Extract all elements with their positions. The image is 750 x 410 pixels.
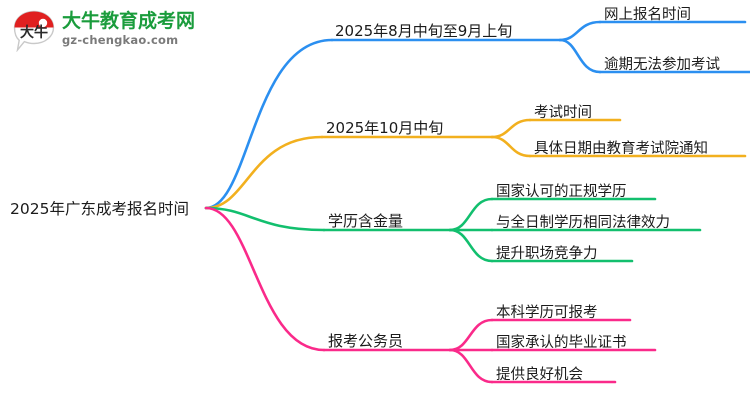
leaf-state-recognized-certificate[interactable]: 国家承认的毕业证书: [496, 331, 627, 352]
connector-branch-orange: [206, 120, 745, 208]
branch-label-exam-time[interactable]: 2025年10月中旬: [326, 117, 443, 138]
leaf-good-opportunity[interactable]: 提供良好机会: [496, 363, 583, 384]
leaf-date-notified-by-bureau[interactable]: 具体日期由教育考试院通知: [534, 137, 708, 158]
leaf-bachelor-can-apply[interactable]: 本科学历可报考: [496, 301, 598, 322]
leaf-overdue-cannot-attend[interactable]: 逾期无法参加考试: [604, 53, 720, 74]
mindmap-canvas: 大牛 大牛教育成考网 gz-chengkao.com: [0, 0, 750, 410]
connector-branch-blue: [206, 22, 750, 208]
branch-label-civil-servant[interactable]: 报考公务员: [328, 330, 403, 351]
branch-label-degree-value[interactable]: 学历含金量: [328, 210, 403, 231]
leaf-same-legal-effect[interactable]: 与全日制学历相同法律效力: [496, 211, 670, 232]
mindmap-root-node[interactable]: 2025年广东成考报名时间: [10, 197, 189, 219]
leaf-state-recognized-degree[interactable]: 国家认可的正规学历: [496, 180, 627, 201]
leaf-exam-time[interactable]: 考试时间: [534, 101, 592, 122]
leaf-online-registration[interactable]: 网上报名时间: [604, 3, 691, 24]
branch-label-registration-time[interactable]: 2025年8月中旬至9月上旬: [335, 20, 512, 41]
leaf-career-competitiveness[interactable]: 提升职场竞争力: [496, 242, 598, 263]
connector-branch-pink: [206, 208, 655, 382]
